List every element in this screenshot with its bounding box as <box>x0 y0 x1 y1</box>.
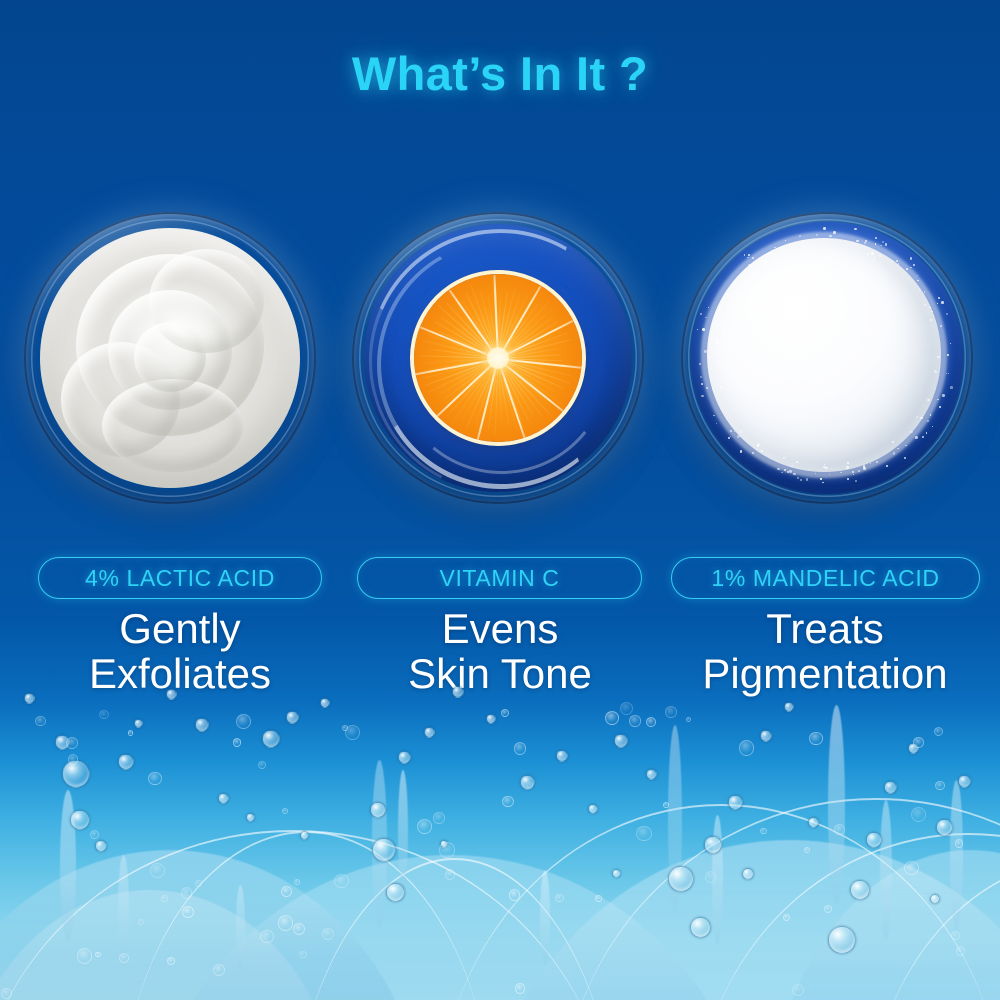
powder-grain <box>701 395 703 397</box>
powder-grain <box>796 461 798 463</box>
powder-grain <box>734 431 735 432</box>
water-droplet <box>704 836 722 854</box>
powder-grain <box>879 255 881 257</box>
water-bubble <box>293 923 305 935</box>
powder-grain <box>937 356 939 358</box>
water-droplet <box>195 718 209 732</box>
powder-grain <box>722 312 723 313</box>
water-bubble <box>646 717 656 727</box>
water-droplet <box>556 750 568 762</box>
water-droplet <box>218 793 229 804</box>
ingredient-image-mandelic-acid <box>681 212 973 504</box>
powder-grain <box>924 291 925 292</box>
powder-grain <box>892 441 894 443</box>
powder-grain <box>705 317 707 319</box>
water-droplet <box>850 880 870 900</box>
powder-grain <box>948 373 949 374</box>
water-droplet <box>95 840 107 852</box>
powder-grain <box>829 235 831 237</box>
water-bubble <box>258 761 266 769</box>
benefit-line-1: Evens <box>350 607 650 652</box>
powder-grain <box>820 478 821 479</box>
powder-grain <box>910 431 912 433</box>
powder-grain <box>747 257 749 259</box>
powder-grain <box>786 456 787 457</box>
water-bubble <box>433 812 445 824</box>
water-droplet <box>286 711 299 724</box>
water-bubble <box>294 879 300 885</box>
water-droplet <box>936 819 953 836</box>
water-bubble <box>417 819 432 834</box>
ingredient-badge-label: 4% LACTIC ACID <box>85 565 275 592</box>
water-droplet <box>118 754 134 770</box>
water-bubble <box>955 839 963 847</box>
water-droplet <box>808 817 819 828</box>
water-droplet <box>486 714 496 724</box>
powder-grain <box>791 465 793 467</box>
water-bubble <box>90 830 99 839</box>
powder-grain <box>924 304 926 306</box>
powder-grain <box>815 473 816 474</box>
powder-grain <box>761 450 763 452</box>
powder-grain <box>875 237 877 239</box>
water-droplet <box>884 781 897 794</box>
powder-grain <box>880 245 882 247</box>
water-droplet <box>930 894 940 904</box>
powder-grain <box>793 473 796 476</box>
benefit-line-1: Treats <box>660 607 990 652</box>
powder-grain <box>941 301 944 304</box>
powder-grain <box>931 311 933 313</box>
water-droplet <box>246 813 255 822</box>
white-powder-icon <box>707 238 941 472</box>
powder-grain <box>715 382 716 383</box>
powder-grain <box>702 328 705 331</box>
water-droplet <box>588 804 598 814</box>
powder-grain <box>706 387 708 389</box>
powder-grain <box>929 307 931 309</box>
water-bubble <box>514 742 527 755</box>
water-jet <box>398 770 408 890</box>
powder-grain <box>896 260 898 262</box>
powder-grain <box>833 231 836 234</box>
water-droplet <box>262 730 280 748</box>
water-bubble <box>161 895 168 902</box>
water-bubble <box>233 738 242 747</box>
water-droplet <box>614 734 628 748</box>
water-bubble <box>935 781 945 791</box>
powder-grain <box>717 319 718 320</box>
cream-swirl-icon <box>40 228 300 488</box>
powder-grain <box>717 315 718 316</box>
powder-grain <box>831 468 833 470</box>
powder-grain <box>748 264 750 266</box>
powder-grain <box>947 354 949 356</box>
water-bubble <box>804 847 810 853</box>
powder-grain <box>730 430 732 432</box>
water-droplet <box>24 693 35 704</box>
powder-grain <box>916 416 918 418</box>
powder-grain <box>863 467 865 469</box>
ingredient-image-vitamin-c <box>352 212 644 504</box>
powder-grain <box>797 477 799 479</box>
powder-grain <box>919 289 920 290</box>
water-bubble <box>951 931 960 940</box>
water-droplet <box>166 689 177 700</box>
powder-grain <box>740 450 742 452</box>
powder-grain <box>710 369 712 371</box>
powder-grain <box>829 474 830 475</box>
water-bubble <box>739 740 755 756</box>
orange-slice-icon <box>414 274 582 442</box>
powder-grain <box>913 264 915 266</box>
water-splash-image <box>0 670 1000 1000</box>
water-bubble <box>236 714 251 729</box>
water-bubble <box>527 782 533 788</box>
powder-grain <box>898 263 900 265</box>
powder-grain <box>935 371 937 373</box>
powder-grain <box>847 462 849 464</box>
water-jet <box>950 780 963 930</box>
water-bubble <box>282 808 288 814</box>
powder-grain <box>930 414 932 416</box>
water-bubble <box>913 737 924 748</box>
powder-grain <box>917 275 918 276</box>
powder-grain <box>823 227 826 230</box>
water-bubble <box>934 727 943 736</box>
water-bubble <box>502 796 513 807</box>
water-bubble <box>119 953 129 963</box>
powder-grain <box>891 261 892 262</box>
water-bubble <box>299 951 306 958</box>
water-jet <box>236 885 245 970</box>
water-bubble <box>904 861 919 876</box>
powder-grain <box>737 435 740 438</box>
powder-grain <box>910 267 911 268</box>
water-bubble <box>809 732 823 746</box>
powder-grain <box>855 250 857 252</box>
water-bubble <box>911 807 926 822</box>
water-bubble <box>66 737 78 749</box>
water-bubble <box>629 715 640 726</box>
powder-grain <box>897 448 898 449</box>
water-bubble <box>278 915 293 930</box>
powder-grain <box>934 370 936 372</box>
ingredient-badge-mandelic-acid[interactable]: 1% MANDELIC ACID <box>671 557 980 599</box>
water-droplet <box>70 810 90 830</box>
water-droplet <box>646 769 657 780</box>
water-bubble <box>515 983 526 994</box>
powder-grain <box>774 247 775 248</box>
water-bubble <box>439 842 455 858</box>
powder-grain <box>905 445 906 446</box>
powder-grain <box>755 272 757 274</box>
powder-grain <box>867 253 869 255</box>
water-droplet <box>742 868 754 880</box>
powder-grain <box>840 472 841 473</box>
water-bubble <box>501 709 509 717</box>
water-bubble <box>99 710 108 719</box>
water-jet <box>880 800 892 940</box>
powder-grain <box>734 292 736 294</box>
powder-grain <box>720 306 722 308</box>
powder-grain <box>803 246 805 248</box>
water-bubble <box>509 889 520 900</box>
water-bubble <box>636 826 652 842</box>
water-bubble <box>665 706 677 718</box>
powder-grain <box>876 461 878 463</box>
water-bubble <box>686 717 691 722</box>
powder-grain <box>752 452 754 454</box>
water-bubble <box>195 880 202 887</box>
powder-grain <box>720 386 723 389</box>
powder-grain <box>700 376 702 378</box>
powder-grain <box>784 469 786 471</box>
water-bubble <box>334 874 348 888</box>
powder-grain <box>701 383 703 385</box>
water-droplet <box>668 866 694 892</box>
powder-grain <box>846 466 849 469</box>
water-bubble <box>605 711 619 725</box>
powder-grain <box>855 480 857 482</box>
water-droplet <box>320 698 330 708</box>
powder-grain <box>874 256 875 257</box>
water-bubble <box>148 772 161 785</box>
powder-grain <box>748 254 750 256</box>
water-bubble <box>663 802 669 808</box>
water-droplet <box>828 926 856 954</box>
water-bubble <box>181 887 193 899</box>
water-droplet <box>690 917 711 938</box>
powder-grain <box>870 463 871 464</box>
powder-grain <box>823 466 825 468</box>
water-droplet <box>866 832 882 848</box>
powder-grain <box>767 253 768 254</box>
water-droplet <box>424 727 435 738</box>
powder-grain <box>873 258 875 260</box>
water-bubble <box>128 730 134 736</box>
water-bubble <box>824 905 832 913</box>
powder-grain <box>940 325 942 327</box>
powder-grain <box>708 307 709 308</box>
water-droplet <box>134 719 143 728</box>
powder-grain <box>800 479 802 481</box>
water-bubble <box>705 871 717 883</box>
powder-grain <box>736 292 739 295</box>
ingredient-badge-label: VITAMIN C <box>440 565 560 592</box>
water-droplet <box>612 869 621 878</box>
water-bubble <box>595 895 601 901</box>
water-bubble <box>345 725 360 740</box>
water-droplet <box>62 760 90 788</box>
powder-grain <box>920 417 923 420</box>
powder-grain <box>852 471 854 473</box>
powder-grain <box>767 253 769 255</box>
powder-grain <box>906 268 908 270</box>
ingredient-image-lactic-acid <box>24 212 316 504</box>
powder-grain <box>740 431 742 433</box>
water-droplet <box>784 702 794 712</box>
powder-grain <box>917 280 918 281</box>
powder-grain <box>783 457 785 459</box>
powder-grain <box>875 243 877 245</box>
water-droplet <box>370 802 386 818</box>
water-droplet <box>452 686 464 698</box>
water-bubble <box>35 716 46 727</box>
powder-grain <box>937 303 938 304</box>
water-droplet <box>760 730 772 742</box>
powder-grain <box>927 399 929 401</box>
powder-grain <box>886 465 888 467</box>
powder-grain <box>799 235 801 237</box>
powder-grain <box>758 443 760 445</box>
powder-grain <box>764 260 767 263</box>
water-droplet <box>386 883 405 902</box>
water-jet <box>118 855 129 960</box>
water-droplet <box>958 775 971 788</box>
water-droplet <box>398 751 411 764</box>
powder-grain <box>789 470 791 472</box>
water-jet <box>540 870 550 965</box>
water-bubble <box>322 928 334 940</box>
powder-grain <box>939 406 940 407</box>
powder-grain <box>950 386 953 389</box>
water-bubble <box>213 964 225 976</box>
page-title: What’s In It ? <box>0 46 1000 101</box>
powder-grain <box>893 452 895 454</box>
powder-grain <box>856 240 858 242</box>
powder-grain <box>904 457 905 458</box>
water-bubble <box>95 952 101 958</box>
powder-grain <box>762 265 763 266</box>
powder-grain <box>716 325 718 327</box>
powder-grain <box>824 464 825 465</box>
powder-grain <box>863 465 865 467</box>
water-droplet <box>728 795 743 810</box>
powder-grain <box>871 252 874 255</box>
ingredient-badge-vitamin-c[interactable]: VITAMIN C <box>357 557 642 599</box>
powder-grain <box>718 305 720 307</box>
powder-grain <box>816 234 818 236</box>
water-bubble <box>956 946 965 955</box>
ingredient-badge-lactic-acid[interactable]: 4% LACTIC ACID <box>38 557 322 599</box>
powder-grain <box>858 470 860 472</box>
water-bubble <box>620 702 634 716</box>
powder-grain <box>785 240 786 241</box>
ingredient-badge-label: 1% MANDELIC ACID <box>711 565 939 592</box>
water-jet <box>828 705 845 905</box>
powder-grain <box>752 257 754 259</box>
powder-grain <box>942 394 945 397</box>
powder-grain <box>825 467 827 469</box>
powder-grain <box>865 240 867 242</box>
powder-grain <box>864 242 866 244</box>
benefit-line-1: Gently <box>30 607 330 652</box>
water-droplet <box>300 831 309 840</box>
powder-grain <box>777 468 779 470</box>
powder-grain <box>787 471 789 473</box>
powder-grain <box>930 319 932 321</box>
powder-grain <box>847 478 849 480</box>
powder-grain <box>937 399 939 401</box>
water-droplet <box>372 838 396 862</box>
ingredient-infographic: What’s In It ? 4% LACTIC ACID VITAMIN C … <box>0 0 1000 1000</box>
powder-grain <box>704 350 706 352</box>
powder-grain <box>946 313 948 315</box>
powder-grain <box>716 341 718 343</box>
powder-grain <box>757 444 759 446</box>
